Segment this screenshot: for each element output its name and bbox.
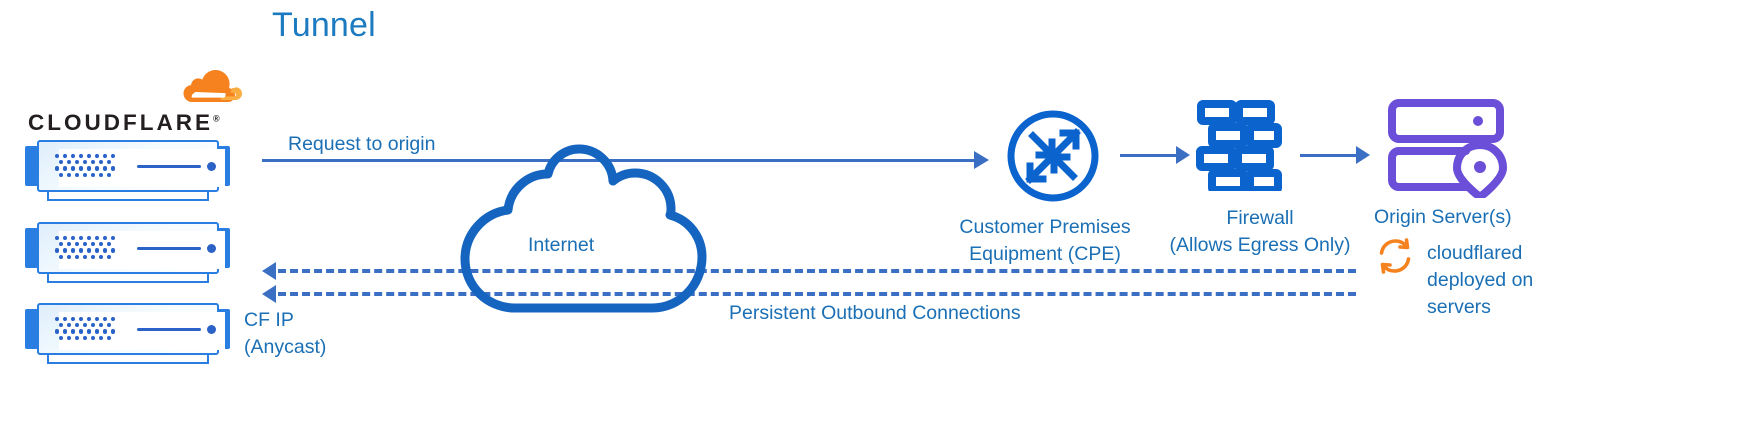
rack-vent-dot [103, 329, 107, 333]
rack-vent-dot [87, 248, 91, 252]
rack-vent-dot [71, 329, 75, 333]
rack-vent-dot [67, 255, 71, 259]
rack-vent-dot [75, 255, 79, 259]
rack-vent-dot [111, 166, 115, 170]
rack-vent-dot [99, 160, 103, 164]
rack-vent-dot [87, 154, 91, 158]
rack-vent-dot [87, 166, 91, 170]
edge-server-rack [25, 140, 230, 202]
cloudflare-cloud-logo-icon [104, 66, 304, 106]
rack-vent-dot [91, 160, 95, 164]
cloudflared-label-line1: cloudflared [1427, 240, 1533, 267]
rack-vent-dot [95, 166, 99, 170]
cloud-outline-icon [443, 140, 723, 315]
server-location-pin-icon [1386, 98, 1508, 198]
rack-vent-dot [91, 336, 95, 340]
rack-vent-dot [75, 323, 79, 327]
rack-vent-dot [71, 236, 75, 240]
rack-vent-dot [55, 317, 59, 321]
rack-vent-dot [83, 255, 87, 259]
rack-vent-dot [107, 242, 111, 246]
internet-cloud [443, 140, 723, 315]
rack-vent-dot [103, 236, 107, 240]
rack-vent-dot [103, 154, 107, 158]
rack-vent-dots [55, 317, 121, 341]
rack-vent-dot [111, 317, 115, 321]
rack-vent-dot [79, 248, 83, 252]
rack-vent-dot [107, 323, 111, 327]
rack-vent-dot [91, 255, 95, 259]
cloudflared-label: cloudflared deployed on servers [1427, 240, 1533, 321]
rack-vent-dot [95, 154, 99, 158]
rack-vent-dot [107, 160, 111, 164]
origin-server-node-icon [1386, 98, 1508, 198]
cpe-node-icon [1005, 108, 1101, 204]
rack-vent-dot [91, 323, 95, 327]
cf-ip-line2: (Anycast) [244, 334, 326, 361]
cpe-to-firewall-arrowhead-icon [1176, 146, 1190, 164]
rack-vent-dot [59, 160, 63, 164]
rack-vent-dot [59, 323, 63, 327]
rack-vent-dot [83, 173, 87, 177]
cloudflared-node-icon [1375, 236, 1415, 276]
rack-vent-dot [99, 173, 103, 177]
firewall-node-icon [1196, 99, 1282, 191]
cloudflare-wordmark-text: CLOUDFLARE [28, 110, 213, 135]
brick-wall-icon [1196, 99, 1282, 191]
cpe-to-firewall-line [1120, 154, 1182, 157]
rack-vent-dots [55, 236, 121, 260]
cf-ip-anycast-label: CF IP (Anycast) [244, 307, 326, 361]
persistent-connection-line [278, 292, 1356, 296]
rack-vent-dot [67, 336, 71, 340]
rack-vent-dot [55, 236, 59, 240]
firewall-to-origin-line [1300, 154, 1362, 157]
rack-vent-dot [87, 329, 91, 333]
cloudflare-logo: CLOUDFLARE® [28, 78, 228, 140]
rack-vent-dot [83, 160, 87, 164]
rack-vent-dot [71, 166, 75, 170]
persistent-outbound-connections-label: Persistent Outbound Connections [729, 302, 1021, 325]
rack-vent-dot [83, 336, 87, 340]
firewall-label: Firewall (Allows Egress Only) [1155, 205, 1365, 259]
rack-vent-dot [63, 248, 67, 252]
rack-vent-dot [67, 242, 71, 246]
rack-vent-dot [75, 242, 79, 246]
firewall-to-origin-arrowhead-icon [1356, 146, 1370, 164]
cloudflared-label-line2: deployed on [1427, 267, 1533, 294]
rack-vent-dot [63, 329, 67, 333]
tunnel-architecture-diagram: Tunnel CLOUDFLARE® Req [0, 0, 1754, 422]
rack-vent-dot [107, 255, 111, 259]
request-to-origin-label: Request to origin [288, 133, 435, 156]
rack-base [47, 355, 209, 364]
rack-vent-dot [107, 336, 111, 340]
rack-vent-dot [103, 248, 107, 252]
rack-vent-dot [103, 317, 107, 321]
registered-trademark-mark: ® [213, 114, 220, 124]
rack-vent-dot [63, 166, 67, 170]
firewall-label-line1: Firewall [1155, 205, 1365, 232]
rack-vent-dot [59, 255, 63, 259]
persistent-connection-arrowhead-icon [262, 262, 276, 280]
rack-vent-dot [55, 329, 59, 333]
rack-vent-dot [63, 236, 67, 240]
rack-vent-dot [99, 255, 103, 259]
rack-vent-dot [91, 173, 95, 177]
internet-label: Internet [528, 234, 594, 257]
rack-vent-dot [59, 336, 63, 340]
rack-vent-dot [79, 154, 83, 158]
rack-vent-dot [99, 336, 103, 340]
rack-vent-dot [79, 236, 83, 240]
cf-ip-line1: CF IP [244, 307, 326, 334]
rack-vent-dot [83, 323, 87, 327]
rack-base [47, 274, 209, 283]
rack-vent-dot [71, 248, 75, 252]
persistent-connection-line [278, 269, 1356, 273]
cloudflared-label-line3: servers [1427, 294, 1533, 321]
rack-vent-dot [75, 160, 79, 164]
rack-vent-dot [55, 166, 59, 170]
rack-vent-dot [111, 154, 115, 158]
rack-vent-dot [111, 248, 115, 252]
rack-vent-dot [67, 323, 71, 327]
rack-vent-dot [95, 248, 99, 252]
rack-vent-dot [67, 160, 71, 164]
edge-server-rack [25, 222, 230, 284]
rack-vent-dot [79, 166, 83, 170]
rack-vent-dot [75, 173, 79, 177]
rack-vent-dot [111, 329, 115, 333]
cpe-label-line2: Equipment (CPE) [945, 241, 1145, 268]
cpe-label-line1: Customer Premises [945, 214, 1145, 241]
rack-vent-dot [75, 336, 79, 340]
rack-vent-dot [99, 323, 103, 327]
rack-vent-dot [55, 248, 59, 252]
rack-vent-dot [111, 236, 115, 240]
rack-vent-dot [87, 236, 91, 240]
rack-vent-dot [95, 317, 99, 321]
request-to-origin-arrowhead-icon [974, 151, 989, 169]
rack-vent-dot [71, 154, 75, 158]
sync-arrows-icon [1375, 236, 1415, 276]
rack-vent-dot [59, 173, 63, 177]
origin-server-label: Origin Server(s) [1374, 206, 1512, 229]
rack-vent-dot [87, 317, 91, 321]
rack-base [47, 192, 209, 201]
rack-led-icon [207, 162, 216, 171]
cloudflare-wordmark: CLOUDFLARE® [28, 110, 228, 136]
rack-vent-dot [63, 317, 67, 321]
rack-led-icon [207, 325, 216, 334]
rack-vent-dot [63, 154, 67, 158]
rack-vent-dot [79, 317, 83, 321]
rack-vent-dot [91, 242, 95, 246]
rack-vent-dot [99, 242, 103, 246]
rack-led-icon [207, 244, 216, 253]
page-title: Tunnel [272, 6, 376, 45]
edge-server-rack [25, 303, 230, 365]
rack-vent-dot [67, 173, 71, 177]
rack-vent-dot [95, 329, 99, 333]
rack-vent-dots [55, 154, 121, 178]
rack-vent-dot [79, 329, 83, 333]
rack-vent-dot [71, 317, 75, 321]
rack-status-bar [137, 247, 201, 250]
rack-vent-dot [55, 154, 59, 158]
rack-vent-dot [107, 173, 111, 177]
rack-status-bar [137, 328, 201, 331]
rack-vent-dot [83, 242, 87, 246]
rack-vent-dot [59, 242, 63, 246]
persistent-connection-arrowhead-icon [262, 285, 276, 303]
cpe-label: Customer Premises Equipment (CPE) [945, 214, 1145, 268]
rack-vent-dot [103, 166, 107, 170]
rack-vent-dot [95, 236, 99, 240]
firewall-label-line2: (Allows Egress Only) [1155, 232, 1365, 259]
four-arrows-circle-icon [1005, 108, 1101, 204]
rack-status-bar [137, 165, 201, 168]
